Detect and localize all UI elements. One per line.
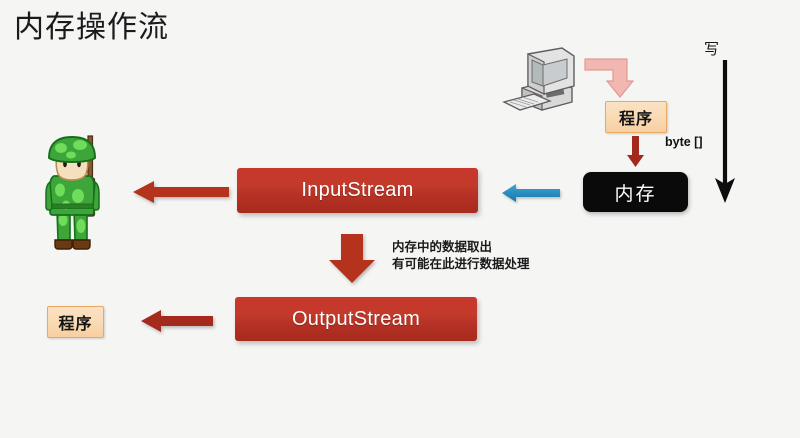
soldier-character-icon bbox=[33, 134, 113, 252]
output-stream-box[interactable]: OutputStream bbox=[235, 297, 477, 341]
inputstream-to-outputstream-arrow bbox=[327, 233, 377, 285]
annotation-text: 内存中的数据取出 有可能在此进行数据处理 bbox=[392, 238, 530, 272]
memory-box[interactable]: 内存 bbox=[583, 172, 688, 212]
program-bottom-label: 程序 bbox=[58, 310, 92, 334]
output-stream-label: OutputStream bbox=[292, 308, 420, 331]
soldier-inflow-arrow bbox=[132, 178, 232, 206]
write-label: 写 bbox=[704, 38, 719, 59]
byte-array-label: byte [] bbox=[665, 135, 703, 149]
write-flow-arrow bbox=[712, 60, 740, 206]
program-box-bottom[interactable]: 程序 bbox=[47, 306, 104, 338]
memory-to-inputstream-arrow bbox=[501, 182, 563, 204]
computer-to-program-arrow bbox=[583, 55, 635, 103]
slide-canvas: 内存操作流 bbox=[0, 0, 800, 438]
input-stream-label: InputStream bbox=[301, 179, 413, 202]
outputstream-to-program-arrow bbox=[140, 308, 216, 334]
program-to-memory-arrow bbox=[627, 136, 645, 168]
program-top-label: 程序 bbox=[619, 105, 653, 129]
page-title: 内存操作流 bbox=[14, 8, 169, 48]
program-box-top[interactable]: 程序 bbox=[605, 101, 667, 133]
input-stream-box[interactable]: InputStream bbox=[237, 168, 478, 213]
desktop-computer-icon bbox=[500, 44, 582, 122]
memory-label: 内存 bbox=[614, 179, 656, 206]
